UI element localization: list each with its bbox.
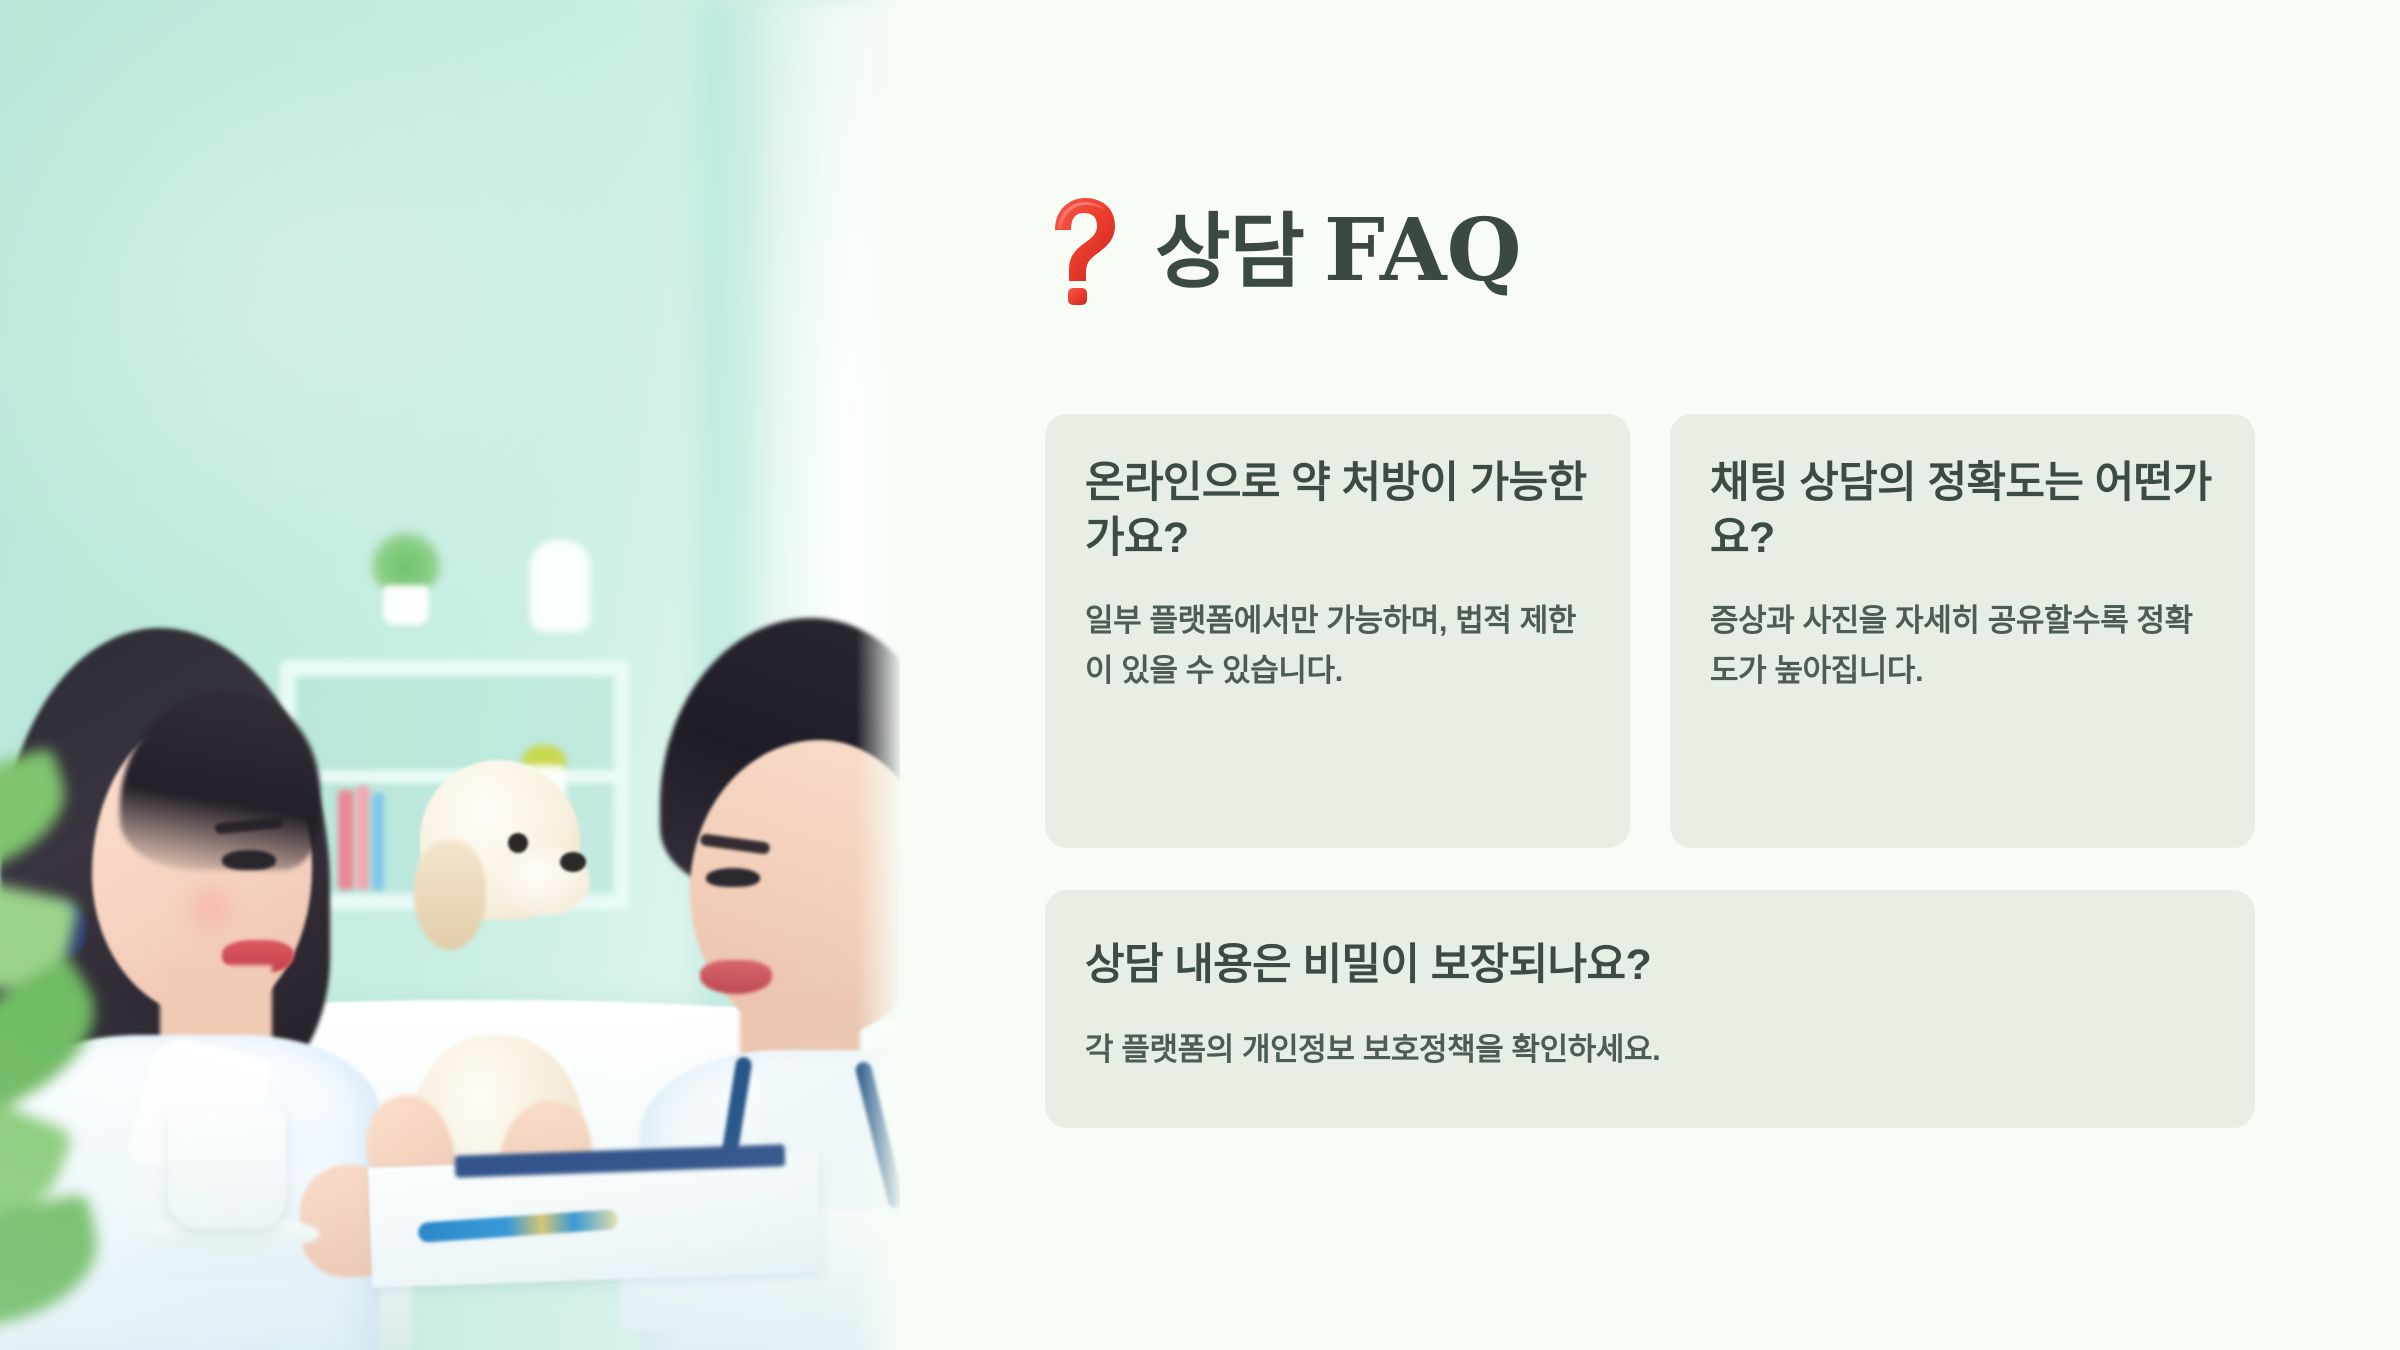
page-title: 상담 FAQ <box>1045 195 1522 307</box>
faq-card-1[interactable]: 온라인으로 약 처방이 가능한가요? 일부 플랫폼에서만 가능하며, 법적 제한… <box>1045 414 1630 848</box>
faq-question: 채팅 상담의 정확도는 어떤가요? <box>1710 456 2215 566</box>
faq-answer: 증상과 사진을 자세히 공유할수록 정확도가 높아집니다. <box>1710 596 2215 696</box>
faq-answer: 각 플랫폼의 개인정보 보호정책을 확인하세요. <box>1085 1027 2215 1074</box>
red-question-mark-icon <box>1045 195 1121 307</box>
title-text: 상담 FAQ <box>1155 208 1522 294</box>
faq-card-3[interactable]: 상담 내용은 비밀이 보장되나요? 각 플랫폼의 개인정보 보호정책을 확인하세… <box>1045 890 2255 1128</box>
photo-vignette <box>0 0 900 1350</box>
faq-card-list: 온라인으로 약 처방이 가능한가요? 일부 플랫폼에서만 가능하며, 법적 제한… <box>1045 414 2255 1128</box>
faq-card-row-top: 온라인으로 약 처방이 가능한가요? 일부 플랫폼에서만 가능하며, 법적 제한… <box>1045 414 2255 848</box>
title-english: FAQ <box>1324 208 1522 294</box>
faq-content-panel: 상담 FAQ 온라인으로 약 처방이 가능한가요? 일부 플랫폼에서만 가능하며… <box>900 0 2400 1350</box>
photo-right-fade <box>856 0 900 1350</box>
faq-question: 온라인으로 약 처방이 가능한가요? <box>1085 456 1590 566</box>
faq-answer: 일부 플랫폼에서만 가능하며, 법적 제한이 있을 수 있습니다. <box>1085 596 1590 696</box>
faq-slide: 상담 FAQ 온라인으로 약 처방이 가능한가요? 일부 플랫폼에서만 가능하며… <box>0 0 2400 1350</box>
faq-question: 상담 내용은 비밀이 보장되나요? <box>1085 938 2215 993</box>
consultation-photo <box>0 0 900 1350</box>
title-korean: 상담 <box>1155 212 1304 294</box>
faq-card-2[interactable]: 채팅 상담의 정확도는 어떤가요? 증상과 사진을 자세히 공유할수록 정확도가… <box>1670 414 2255 848</box>
